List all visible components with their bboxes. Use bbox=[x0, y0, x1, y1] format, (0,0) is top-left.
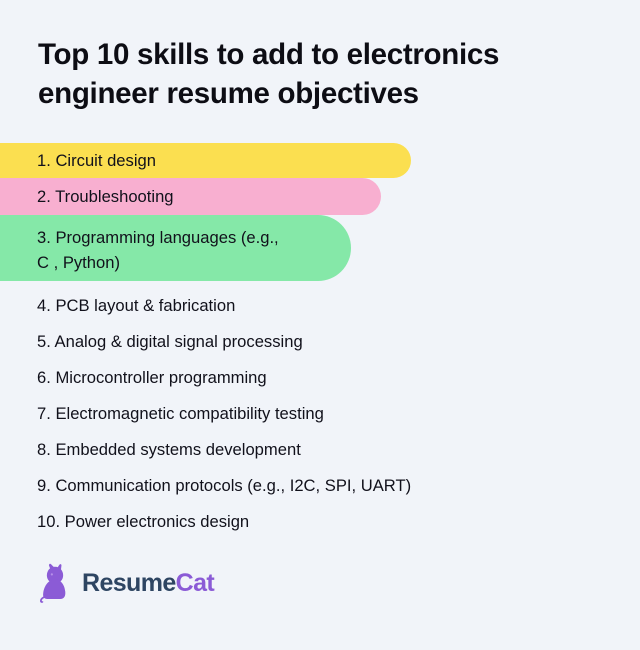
list-item-highlighted: 1. Circuit design bbox=[0, 143, 640, 178]
list-item-label: 1. Circuit design bbox=[0, 143, 640, 169]
list-item: 8. Embedded systems development bbox=[37, 432, 617, 468]
page-title: Top 10 skills to add to electronics engi… bbox=[38, 36, 604, 114]
highlighted-skills-list: 1. Circuit design 2. Troubleshooting 3. … bbox=[0, 143, 640, 281]
list-item-label: 3. Programming languages (e.g., C , Pyth… bbox=[0, 215, 640, 275]
list-item-highlighted: 2. Troubleshooting bbox=[0, 178, 640, 215]
logo-word-primary: Resume bbox=[82, 569, 176, 597]
list-item: 6. Microcontroller programming bbox=[37, 360, 617, 396]
infographic-page: Top 10 skills to add to electronics engi… bbox=[0, 0, 640, 650]
logo-wordmark: ResumeCat bbox=[82, 571, 214, 596]
list-item: 4. PCB layout & fabrication bbox=[37, 288, 617, 324]
logo-word-secondary: Cat bbox=[176, 569, 214, 597]
plain-skills-list: 4. PCB layout & fabrication 5. Analog & … bbox=[37, 288, 617, 540]
list-item: 10. Power electronics design bbox=[37, 504, 617, 540]
cat-icon bbox=[38, 562, 72, 604]
list-item: 9. Communication protocols (e.g., I2C, S… bbox=[37, 468, 617, 504]
list-item: 5. Analog & digital signal processing bbox=[37, 324, 617, 360]
list-item: 7. Electromagnetic compatibility testing bbox=[37, 396, 617, 432]
resumecat-logo[interactable]: ResumeCat bbox=[38, 562, 214, 604]
list-item-label: 2. Troubleshooting bbox=[0, 178, 640, 205]
list-item-highlighted: 3. Programming languages (e.g., C , Pyth… bbox=[0, 215, 640, 281]
